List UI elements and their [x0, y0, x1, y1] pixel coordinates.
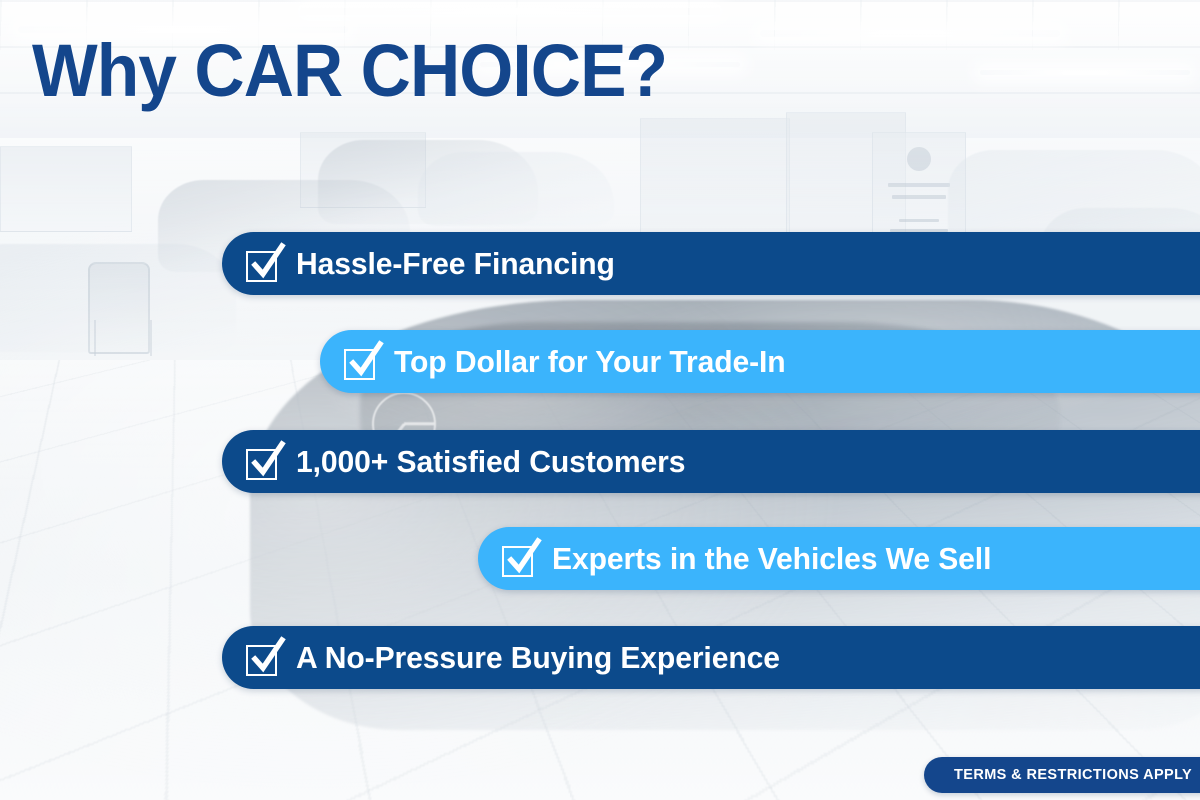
benefits-list: Hassle-Free Financing Top Dollar for You…: [0, 0, 1200, 800]
benefit-label: 1,000+ Satisfied Customers: [296, 446, 685, 477]
terms-badge[interactable]: TERMS & RESTRICTIONS APPLY: [924, 757, 1200, 793]
benefit-label: Experts in the Vehicles We Sell: [552, 543, 991, 574]
benefit-bar-top-dollar-for-your-trade-in[interactable]: Top Dollar for Your Trade-In: [320, 330, 1200, 393]
terms-badge-label: TERMS & RESTRICTIONS APPLY: [954, 767, 1192, 783]
benefit-bar-experts-in-the-vehicles-we-sell[interactable]: Experts in the Vehicles We Sell: [478, 527, 1200, 590]
benefit-label: Top Dollar for Your Trade-In: [394, 346, 786, 377]
benefit-label: A No-Pressure Buying Experience: [296, 642, 780, 673]
promo-banner: Why CAR CHOICE? Hassle-Free Financing To…: [0, 0, 1200, 800]
benefit-label: Hassle-Free Financing: [296, 248, 615, 279]
benefit-bar-hassle-free-financing[interactable]: Hassle-Free Financing: [222, 232, 1200, 295]
checkbox-checked-icon: [246, 640, 282, 676]
benefit-bar-a-no-pressure-buying-experience[interactable]: A No-Pressure Buying Experience: [222, 626, 1200, 689]
checkbox-checked-icon: [344, 344, 380, 380]
checkbox-checked-icon: [246, 246, 282, 282]
checkbox-checked-icon: [502, 541, 538, 577]
benefit-bar-1000-satisfied-customers[interactable]: 1,000+ Satisfied Customers: [222, 430, 1200, 493]
checkbox-checked-icon: [246, 444, 282, 480]
